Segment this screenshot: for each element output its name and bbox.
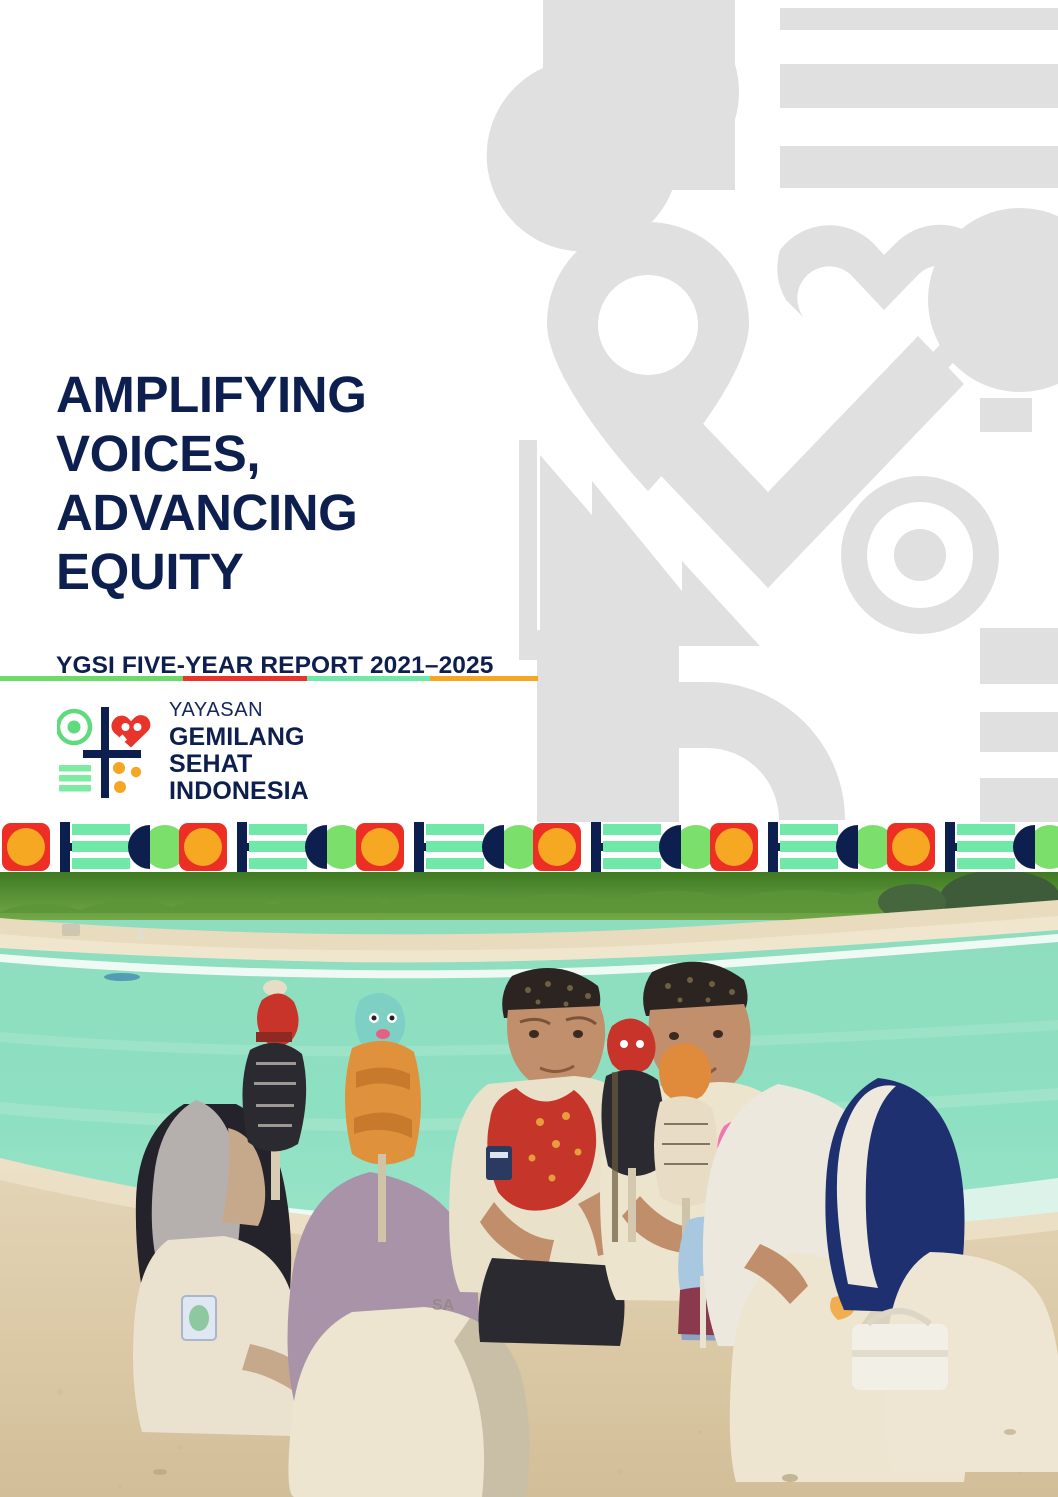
watermark-stripe <box>780 64 1058 108</box>
accent-segment-green <box>0 676 183 681</box>
watermark-stripe <box>980 778 1058 822</box>
logo-stripe <box>59 775 91 782</box>
logo-dot <box>113 762 125 774</box>
accent-segment-orange <box>430 676 538 681</box>
rounded-blob-circle <box>543 0 739 190</box>
logo-stripe <box>59 765 91 772</box>
logo-dot <box>131 767 141 777</box>
watermark-stripe <box>980 712 1058 752</box>
photo-boat <box>104 973 140 981</box>
accent-segment-red <box>183 676 307 681</box>
logo-heart-hole <box>134 723 142 731</box>
logo-dot <box>114 781 126 793</box>
logo-target-center-icon <box>68 721 81 734</box>
accent-segment-mint <box>307 676 431 681</box>
puppet-orange-head <box>659 1043 711 1102</box>
logo-wordmark: YAYASAN GEMILANG SEHAT INDONESIA <box>169 700 309 805</box>
logo-line-gemilang: GEMILANG <box>169 724 309 751</box>
logo-lockup: YAYASAN GEMILANG SEHAT INDONESIA <box>57 700 309 805</box>
report-cover: AMPLIFYING VOICES, ADVANCING EQUITY YGSI… <box>0 0 1058 1497</box>
watermark-square <box>980 398 1032 432</box>
title-block: AMPLIFYING VOICES, ADVANCING EQUITY YGSI… <box>56 366 526 680</box>
logo-heart-icon <box>111 715 150 747</box>
logo-heart-hole <box>122 723 130 731</box>
photo-debris <box>153 1469 167 1475</box>
decorative-pattern-band <box>0 822 1058 872</box>
rounded-blob-stem <box>606 0 735 190</box>
svg-text:SA: SA <box>432 1297 455 1314</box>
watermark-stripe <box>780 8 1058 30</box>
logo-line-sehat: SEHAT <box>169 751 309 778</box>
logo-line-yayasan: YAYASAN <box>169 700 309 720</box>
puppet-red-head-2 <box>607 1018 656 1074</box>
watermark-circle-right <box>928 208 1058 392</box>
cover-photograph: SA <box>0 872 1058 1497</box>
uniform-badge <box>486 1146 512 1180</box>
logo-cross-horizontal <box>83 750 141 758</box>
photo-debris <box>1004 1429 1016 1435</box>
photo-debris <box>782 1474 798 1482</box>
rounded-blob-shape <box>487 0 735 251</box>
accent-rule <box>0 676 538 681</box>
logo-line-indonesia: INDONESIA <box>169 778 309 805</box>
page-title: AMPLIFYING VOICES, ADVANCING EQUITY <box>56 366 526 602</box>
watermark-stripe <box>980 628 1058 684</box>
letter-d-shape <box>537 630 845 820</box>
letter-d-stem <box>537 630 679 822</box>
target-ring-icon <box>854 489 986 621</box>
mountain-shape <box>540 455 760 646</box>
chevron-shape <box>644 336 964 588</box>
ygsi-logo-mark-icon <box>57 705 157 800</box>
watermark-stripe <box>780 146 1058 188</box>
puppet-orange-body <box>345 1041 421 1165</box>
heart-outline-icon <box>777 225 1002 434</box>
logo-stripe <box>59 785 91 792</box>
cover-top-panel: AMPLIFYING VOICES, ADVANCING EQUITY YGSI… <box>0 0 1058 822</box>
location-pin-icon <box>547 222 749 491</box>
